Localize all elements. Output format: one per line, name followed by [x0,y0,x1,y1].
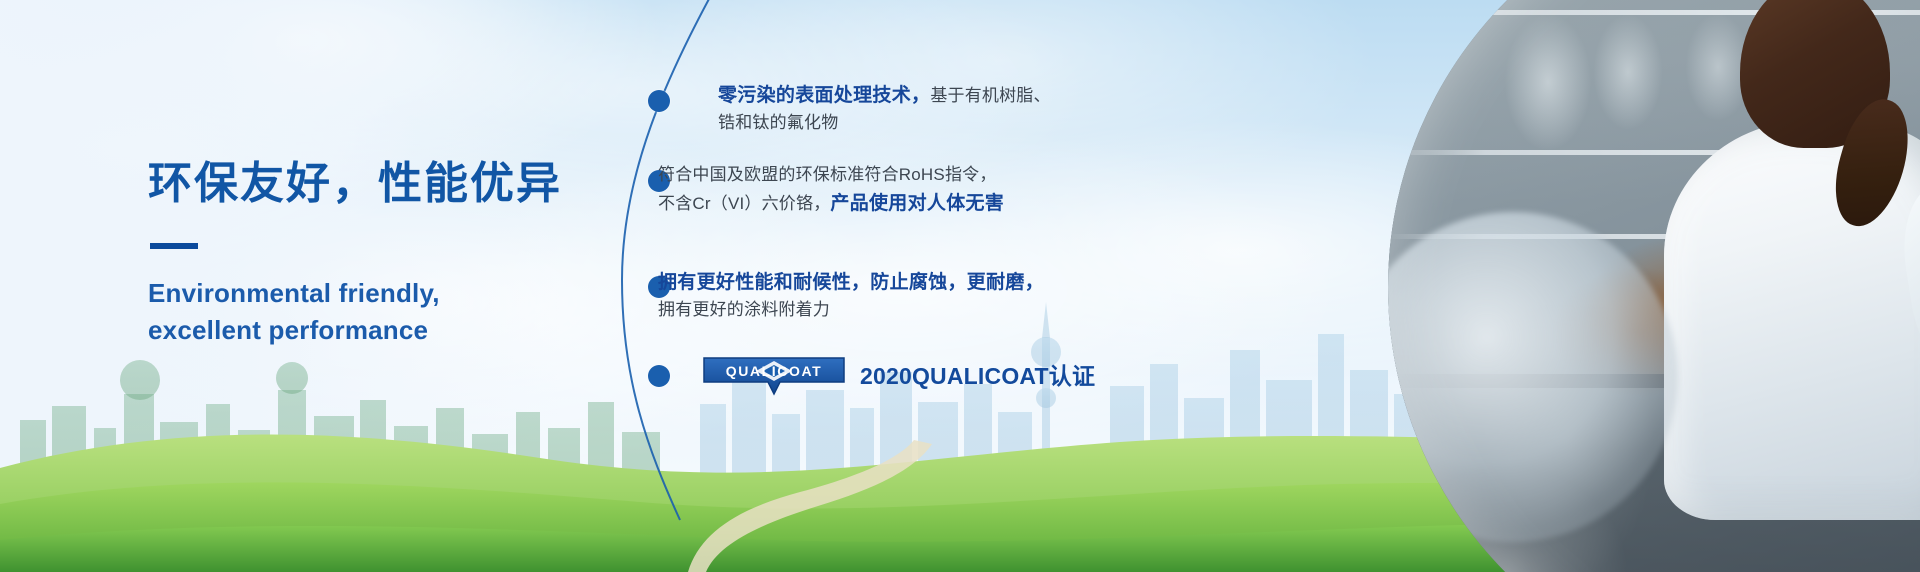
qualicoat-logo-icon: QUALICOAT [700,352,848,396]
bullet-line: 拥有更好性能和耐候性，防止腐蚀，更耐磨， [658,268,1128,297]
certification-label: 2020QUALICOAT认证 [860,357,1095,391]
bullet-text: 拥有更好性能和耐候性，防止腐蚀，更耐磨， 拥有更好的涂料附着力 [658,268,1128,324]
photo-container [1102,0,1920,572]
qualicoat-logo-text: QUALICOAT [726,363,823,379]
bullet-dot-icon [648,365,670,387]
photo-edge-vignette [1388,0,1920,572]
bullet-dot-icon [648,90,670,112]
bullet-text-normal: 符合中国及欧盟的环保标准符合RoHS指令， [658,165,997,184]
bullet-text-bold: 拥有更好性能和耐候性，防止腐蚀，更耐磨， [658,272,1044,293]
divider-rule [150,243,198,249]
laboratory-photo-circle [1388,0,1920,572]
bullet-line: 不含Cr（VI）六价铬，产品使用对人体无害 [658,189,1128,218]
bullet-text-normal: 锆和钛的氟化物 [718,113,838,132]
certification-block: QUALICOAT 2020QUALICOAT认证 [700,352,1095,396]
bullet-text-bold: 产品使用对人体无害 [830,193,1004,214]
bullet-line: 拥有更好的涂料附着力 [658,297,1128,324]
bullet-line: 符合中国及欧盟的环保标准符合RoHS指令， [658,162,1128,189]
bullet-text-bold: 零污染的表面处理技术， [718,85,930,106]
bullet-text-normal: 基于有机树脂、 [930,86,1050,105]
product-feature-banner: 环保友好，性能优异 Environmental friendly, excell… [0,0,1920,572]
bullet-text: 符合中国及欧盟的环保标准符合RoHS指令， 不含Cr（VI）六价铬，产品使用对人… [658,162,1128,218]
bullet-text-normal: 不含Cr（VI）六价铬， [658,194,830,213]
bullet-text-normal: 拥有更好的涂料附着力 [658,300,830,319]
